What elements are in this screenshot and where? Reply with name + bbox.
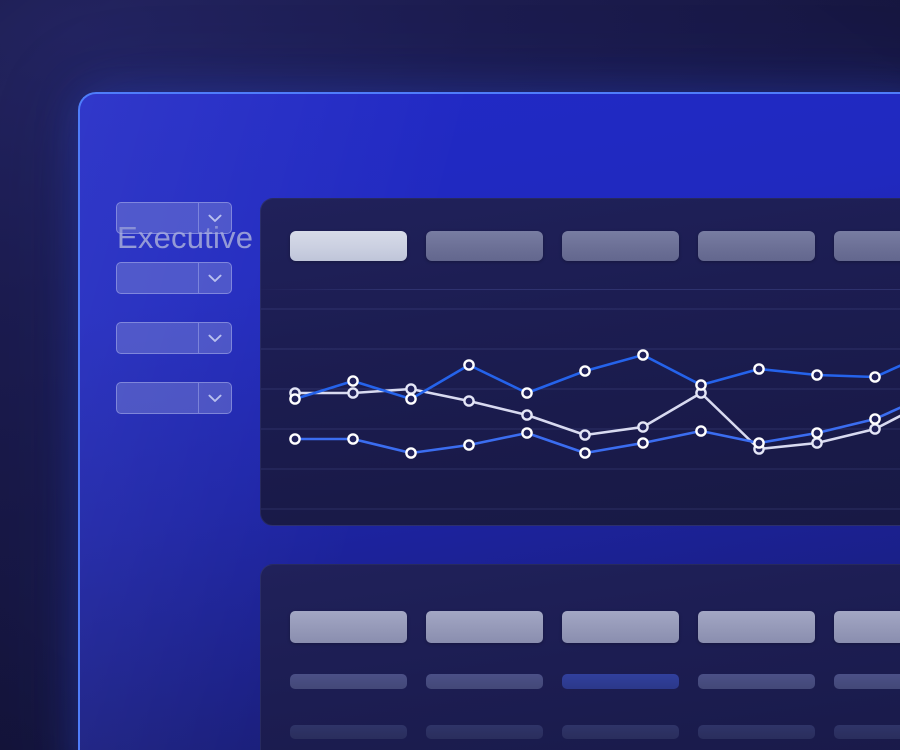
chevron-down-icon[interactable] xyxy=(198,323,231,353)
table-cell[interactable] xyxy=(426,674,543,689)
chart-data-point[interactable] xyxy=(464,396,473,405)
table-row[interactable] xyxy=(290,674,900,689)
chart-line xyxy=(295,351,900,399)
chart-data-point[interactable] xyxy=(638,350,647,359)
chart-tab-5[interactable] xyxy=(834,231,900,261)
chart-data-point[interactable] xyxy=(812,438,821,447)
chart-data-point[interactable] xyxy=(406,384,415,393)
table-cell-bar xyxy=(290,674,407,689)
line-chart xyxy=(261,295,900,526)
chart-data-point[interactable] xyxy=(522,410,531,419)
table-cell[interactable] xyxy=(834,674,900,689)
chart-series-series-blue-lower xyxy=(290,388,900,457)
table-cell[interactable] xyxy=(562,725,679,739)
table-row-gap xyxy=(290,643,900,674)
table-cell-bar xyxy=(834,674,900,689)
executive-summary-panel: Executive summary xyxy=(78,92,900,750)
chevron-down-icon[interactable] xyxy=(198,263,231,293)
chart-data-point[interactable] xyxy=(754,438,763,447)
chart-data-point[interactable] xyxy=(522,428,531,437)
table-header-bar xyxy=(834,611,900,643)
chart-data-point[interactable] xyxy=(870,424,879,433)
table-cell-bar xyxy=(562,725,679,739)
filter-select-value xyxy=(117,263,198,293)
table-row-gap xyxy=(290,739,900,750)
table-header-bar xyxy=(290,611,407,643)
filter-select-value xyxy=(117,383,198,413)
table-cell-bar-highlighted xyxy=(562,674,679,689)
chart-series-series-light xyxy=(290,384,900,453)
table-cell-bar xyxy=(834,725,900,739)
table-cell-bar xyxy=(290,725,407,739)
chart-tab-2[interactable] xyxy=(426,231,543,261)
filter-select-2[interactable] xyxy=(116,262,232,294)
chart-data-point[interactable] xyxy=(406,394,415,403)
table-cell[interactable] xyxy=(834,725,900,739)
filter-select-3[interactable] xyxy=(116,322,232,354)
chart-data-point[interactable] xyxy=(638,422,647,431)
chevron-down-icon[interactable] xyxy=(198,383,231,413)
chart-data-point[interactable] xyxy=(348,388,357,397)
chart-data-point[interactable] xyxy=(522,388,531,397)
table-header-bar xyxy=(426,611,543,643)
table-header-cell[interactable] xyxy=(290,611,407,643)
chart-data-point[interactable] xyxy=(580,448,589,457)
filter-select-1[interactable] xyxy=(116,202,232,234)
chart-data-point[interactable] xyxy=(696,426,705,435)
chart-data-point[interactable] xyxy=(812,428,821,437)
filter-select-value xyxy=(117,203,198,233)
chart-data-point[interactable] xyxy=(812,370,821,379)
chart-series-series-blue-upper xyxy=(290,346,900,403)
table-header-bar xyxy=(698,611,815,643)
table-body xyxy=(290,611,900,750)
chart-data-point[interactable] xyxy=(580,366,589,375)
filter-panel xyxy=(116,202,234,442)
chart-tab-row xyxy=(290,231,900,261)
chart-data-point[interactable] xyxy=(348,434,357,443)
chart-card xyxy=(260,198,900,526)
table-cell-bar xyxy=(698,674,815,689)
table-cell[interactable] xyxy=(698,674,815,689)
chart-svg xyxy=(261,295,900,526)
table-row[interactable] xyxy=(290,725,900,739)
chart-data-point[interactable] xyxy=(638,438,647,447)
chart-data-point[interactable] xyxy=(870,414,879,423)
table-cell-bar xyxy=(426,674,543,689)
table-cell[interactable] xyxy=(562,674,679,689)
table-row-gap xyxy=(290,689,900,725)
filter-select-value xyxy=(117,323,198,353)
table-cell[interactable] xyxy=(290,674,407,689)
table-cell[interactable] xyxy=(698,725,815,739)
chart-gridlines xyxy=(261,309,900,509)
chart-data-point[interactable] xyxy=(290,394,299,403)
table-header-cell[interactable] xyxy=(562,611,679,643)
tab-row-divider xyxy=(261,289,900,290)
table-header-cell[interactable] xyxy=(834,611,900,643)
chart-tab-1[interactable] xyxy=(290,231,407,261)
table-cell-bar xyxy=(426,725,543,739)
table-cell-bar xyxy=(698,725,815,739)
chart-line xyxy=(295,389,900,449)
table-header-cell[interactable] xyxy=(698,611,815,643)
filter-select-4[interactable] xyxy=(116,382,232,414)
chevron-down-icon[interactable] xyxy=(198,203,231,233)
table-card xyxy=(260,564,900,750)
chart-data-point[interactable] xyxy=(754,364,763,373)
chart-data-point[interactable] xyxy=(870,372,879,381)
chart-data-point[interactable] xyxy=(580,430,589,439)
chart-data-point[interactable] xyxy=(406,448,415,457)
chart-tab-4[interactable] xyxy=(698,231,815,261)
table-header-bar xyxy=(562,611,679,643)
chart-data-point[interactable] xyxy=(464,360,473,369)
chart-data-point[interactable] xyxy=(348,376,357,385)
chart-tab-3[interactable] xyxy=(562,231,679,261)
table-cell[interactable] xyxy=(426,725,543,739)
chart-data-point[interactable] xyxy=(696,380,705,389)
table-header-cell[interactable] xyxy=(426,611,543,643)
chart-data-point[interactable] xyxy=(464,440,473,449)
chart-data-point[interactable] xyxy=(290,434,299,443)
table-header-row xyxy=(290,611,900,643)
table-cell[interactable] xyxy=(290,725,407,739)
